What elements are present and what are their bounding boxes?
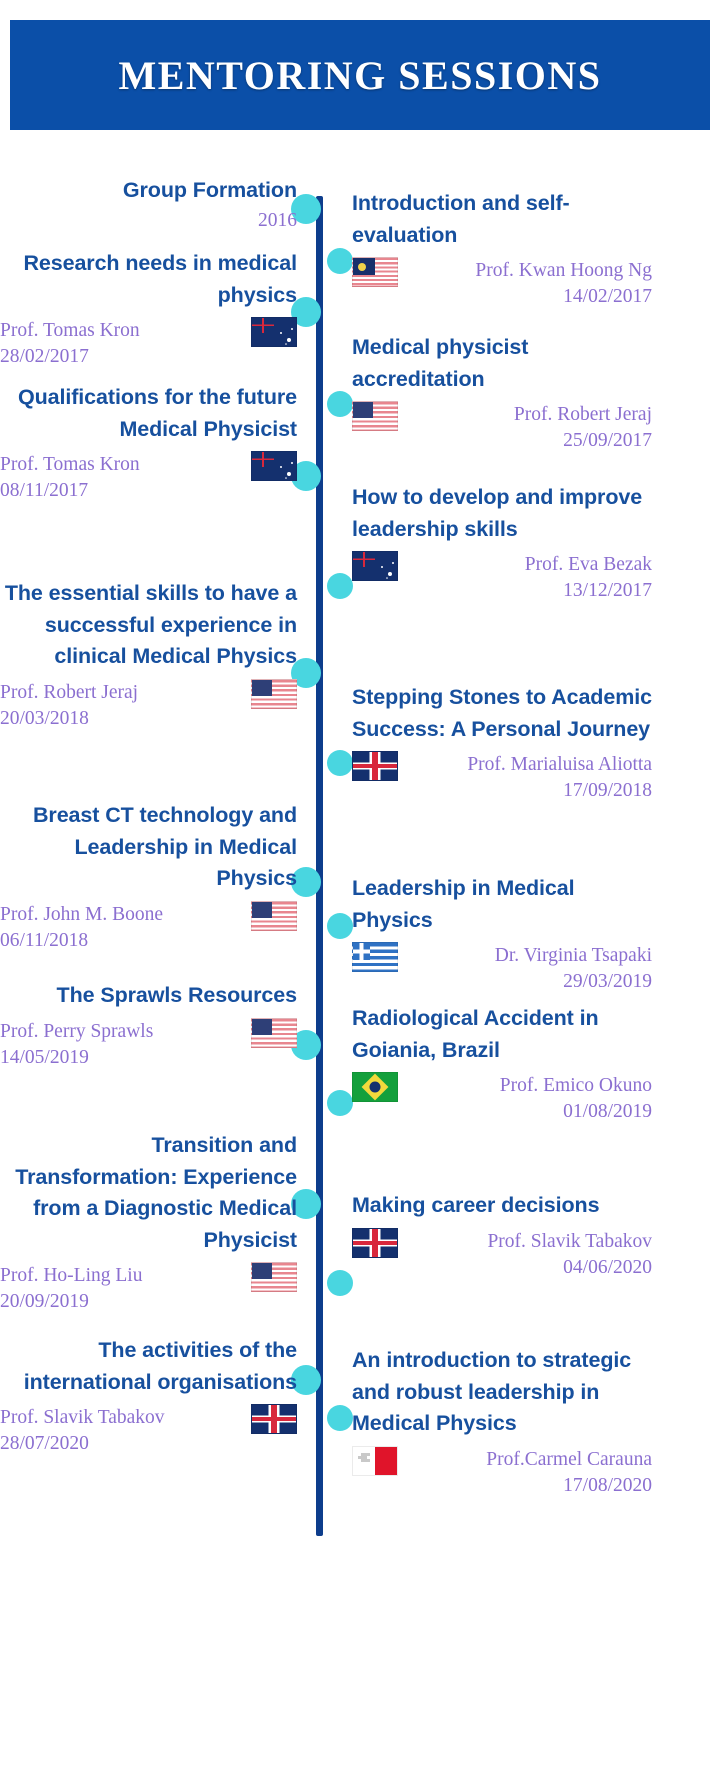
- entry-title: The Sprawls Resources: [0, 980, 297, 1012]
- flag-usa-icon: [251, 1018, 297, 1048]
- entry-meta: Prof. Kwan Hoong Ng 14/02/2017: [352, 255, 652, 310]
- flag-usa-icon: [352, 401, 398, 431]
- entry-meta: Prof. Perry Sprawls 14/05/2019: [0, 1016, 297, 1071]
- timeline-entry-right[interactable]: Making career decisions Prof. Slavik Tab…: [352, 1190, 652, 1280]
- entry-date: 17/08/2020: [406, 1473, 652, 1499]
- entry-speaker: Prof. John M. Boone: [0, 902, 163, 928]
- entry-date: 01/08/2019: [406, 1099, 652, 1125]
- flag-usa-icon: [251, 901, 297, 931]
- entry-date: 20/09/2019: [0, 1289, 142, 1315]
- entry-date: 20/03/2018: [0, 706, 138, 732]
- entry-date: 28/07/2020: [0, 1431, 165, 1457]
- timeline-dot: [327, 1270, 353, 1296]
- entry-title: Transition and Transformation: Experienc…: [0, 1130, 297, 1256]
- entry-speaker: Prof. Ho-Ling Liu: [0, 1263, 142, 1289]
- entry-date: 08/11/2017: [0, 478, 140, 504]
- entry-meta: Prof.Carmel Carauna 17/08/2020: [352, 1444, 652, 1499]
- flag-malaysia-icon: [352, 257, 398, 287]
- flag-greece-icon: [352, 942, 398, 972]
- entry-title: Introduction and self-evaluation: [352, 188, 652, 251]
- entry-date: 25/09/2017: [406, 428, 652, 454]
- timeline-dot: [327, 391, 353, 417]
- flag-uk-icon: [352, 751, 398, 781]
- entry-speaker: Prof. Kwan Hoong Ng: [406, 258, 652, 284]
- entry-date: 29/03/2019: [406, 969, 652, 995]
- timeline-entry-left[interactable]: Qualifications for the future Medical Ph…: [0, 382, 305, 504]
- entry-date: 13/12/2017: [406, 578, 652, 604]
- timeline-entry-left[interactable]: The activities of the international orga…: [0, 1335, 305, 1457]
- entry-meta: Prof. Tomas Kron 28/02/2017: [0, 315, 297, 370]
- entry-speaker: Prof. Emico Okuno: [406, 1073, 652, 1099]
- flag-malta-icon: [352, 1446, 398, 1476]
- flag-uk-icon: [352, 1228, 398, 1258]
- entry-meta: Prof. Emico Okuno 01/08/2019: [352, 1070, 652, 1125]
- flag-australia-icon: [352, 551, 398, 581]
- entry-title: Qualifications for the future Medical Ph…: [0, 382, 297, 445]
- entry-speaker: Prof. Slavik Tabakov: [406, 1229, 652, 1255]
- entry-title: Stepping Stones to Academic Success: A P…: [352, 682, 652, 745]
- entry-date: 28/02/2017: [0, 344, 140, 370]
- entry-title: Research needs in medical physics: [0, 248, 297, 311]
- flag-australia-icon: [251, 317, 297, 347]
- entry-meta: Prof. Robert Jeraj 25/09/2017: [352, 399, 652, 454]
- timeline-dot: [327, 248, 353, 274]
- entry-date: 06/11/2018: [0, 928, 163, 954]
- entry-meta: Prof. Marialuisa Aliotta 17/09/2018: [352, 749, 652, 804]
- entry-title: Breast CT technology and Leadership in M…: [0, 800, 297, 895]
- timeline-entry-right[interactable]: Introduction and self-evaluation Prof. K…: [352, 188, 652, 310]
- timeline-entry-left[interactable]: The Sprawls Resources Prof. Perry Sprawl…: [0, 980, 305, 1070]
- timeline-dot: [327, 750, 353, 776]
- entry-title: Making career decisions: [352, 1190, 652, 1222]
- timeline-entry-left[interactable]: Research needs in medical physics Prof. …: [0, 248, 305, 370]
- timeline-dot: [327, 913, 353, 939]
- timeline-entry-left[interactable]: The essential skills to have a successfu…: [0, 578, 305, 732]
- entry-title: The activities of the international orga…: [0, 1335, 297, 1398]
- timeline-entry-left[interactable]: Group Formation 2016: [0, 175, 305, 232]
- entry-date: 14/02/2017: [406, 284, 652, 310]
- entry-meta: Dr. Virginia Tsapaki 29/03/2019: [352, 940, 652, 995]
- timeline-entry-left[interactable]: Transition and Transformation: Experienc…: [0, 1130, 305, 1315]
- entry-title: An introduction to strategic and robust …: [352, 1345, 652, 1440]
- entry-speaker: Prof. Tomas Kron: [0, 318, 140, 344]
- timeline-entry-right[interactable]: Radiological Accident in Goiania, Brazil…: [352, 1003, 652, 1125]
- entry-meta: Prof. Robert Jeraj 20/03/2018: [0, 677, 297, 732]
- entry-speaker: Prof. Robert Jeraj: [0, 680, 138, 706]
- flag-australia-icon: [251, 451, 297, 481]
- flag-usa-icon: [251, 679, 297, 709]
- entry-title: The essential skills to have a successfu…: [0, 578, 297, 673]
- entry-date: 04/06/2020: [406, 1255, 652, 1281]
- timeline-dot: [327, 1090, 353, 1116]
- flag-brazil-icon: [352, 1072, 398, 1102]
- timeline-entry-right[interactable]: Stepping Stones to Academic Success: A P…: [352, 682, 652, 804]
- entry-speaker: Prof. Perry Sprawls: [0, 1019, 153, 1045]
- timeline-dot: [327, 1405, 353, 1431]
- entry-meta: Prof. John M. Boone 06/11/2018: [0, 899, 297, 954]
- timeline-entry-right[interactable]: An introduction to strategic and robust …: [352, 1345, 652, 1499]
- entry-speaker: Prof. Eva Bezak: [406, 552, 652, 578]
- timeline-entry-right[interactable]: Leadership in Medical Physics Dr. Virgin…: [352, 873, 652, 995]
- entry-speaker: Prof. Slavik Tabakov: [0, 1405, 165, 1431]
- entry-speaker: Prof. Tomas Kron: [0, 452, 140, 478]
- entry-meta: Prof. Eva Bezak 13/12/2017: [352, 549, 652, 604]
- flag-usa-icon: [251, 1262, 297, 1292]
- entry-title: Radiological Accident in Goiania, Brazil: [352, 1003, 652, 1066]
- entry-speaker: Dr. Virginia Tsapaki: [406, 943, 652, 969]
- page-title: MENTORING SESSIONS: [118, 52, 601, 99]
- entry-title: Group Formation: [0, 175, 297, 207]
- entry-meta: Prof. Ho-Ling Liu 20/09/2019: [0, 1260, 297, 1315]
- entry-date: 17/09/2018: [406, 778, 652, 804]
- timeline-entry-left[interactable]: Breast CT technology and Leadership in M…: [0, 800, 305, 954]
- entry-meta: Prof. Tomas Kron 08/11/2017: [0, 449, 297, 504]
- entry-meta: Prof. Slavik Tabakov 28/07/2020: [0, 1402, 297, 1457]
- entry-title: How to develop and improve leadership sk…: [352, 482, 652, 545]
- entry-meta: Prof. Slavik Tabakov 04/06/2020: [352, 1226, 652, 1281]
- timeline-entry-right[interactable]: Medical physicist accreditation Prof. Ro…: [352, 332, 652, 454]
- header-banner: MENTORING SESSIONS: [10, 20, 710, 130]
- entry-speaker: Prof.Carmel Carauna: [406, 1447, 652, 1473]
- entry-year: 2016: [0, 210, 297, 232]
- timeline-entry-right[interactable]: How to develop and improve leadership sk…: [352, 482, 652, 604]
- entry-speaker: Prof. Robert Jeraj: [406, 402, 652, 428]
- timeline-spine: [316, 196, 323, 1536]
- flag-uk-icon: [251, 1404, 297, 1434]
- entry-date: 14/05/2019: [0, 1045, 153, 1071]
- entry-title: Leadership in Medical Physics: [352, 873, 652, 936]
- entry-title: Medical physicist accreditation: [352, 332, 652, 395]
- entry-speaker: Prof. Marialuisa Aliotta: [406, 752, 652, 778]
- timeline-dot: [327, 573, 353, 599]
